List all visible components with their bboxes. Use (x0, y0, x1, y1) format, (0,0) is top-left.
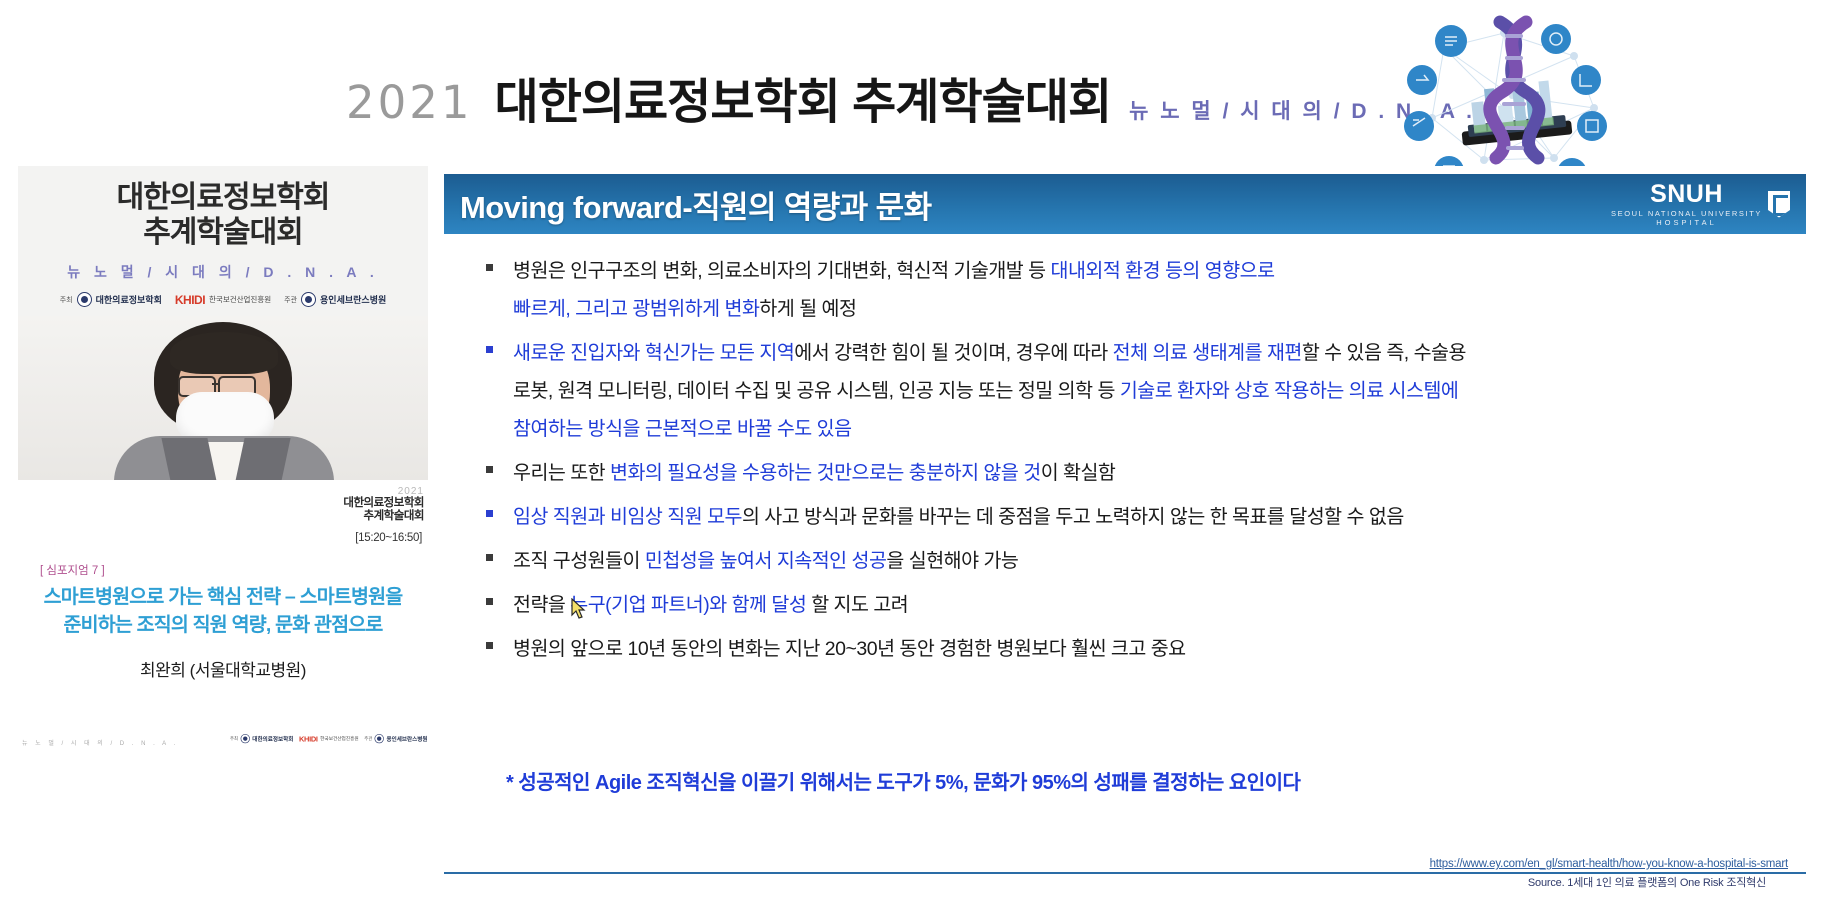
poster-organizer: 주관 용인세브란스병원 (284, 292, 386, 307)
slide-title: Moving forward-직원의 역량과 문화 (460, 182, 931, 227)
banner-title: 대한의료정보학회 추계학술대회 (495, 62, 1112, 132)
plain-text: 의 사고 방식과 문화를 바꾸는 데 중점을 두고 노력하지 않는 한 목표를 … (742, 506, 1404, 528)
session-meta: 2021 대한의료정보학회 추계학술대회 [15:20~16:50] [ 심포지… (18, 486, 428, 732)
footer-sponsor-name: 한국보건산업진흥원 (321, 735, 360, 742)
plain-text: 병원은 인구구조의 변화, 의료소비자의 기대변화, 혁신적 기술개발 등 (513, 260, 1051, 282)
host-seal-icon (77, 292, 92, 307)
bullet-text: 새로운 진입자와 혁신가는 모든 지역에서 강력한 힘이 될 것이며, 경우에 … (513, 334, 1466, 448)
snuh-logo: SNUH SEOUL NATIONAL UNIVERSITY HOSPITAL (1611, 182, 1790, 227)
poster-title: 대한의료정보학회 추계학술대회 (18, 180, 428, 251)
banner-year: 2021 (346, 76, 473, 129)
bullet-line: 임상 직원과 비임상 직원 모두의 사고 방식과 문화를 바꾸는 데 중점을 두… (513, 498, 1404, 536)
conference-banner: 2021 대한의료정보학회 추계학술대회 뉴 노 멀 / 시 대 의 / D .… (0, 0, 1824, 186)
highlighted-text: 대내외적 환경 등의 영향으로 (1051, 260, 1275, 282)
footer-sponsor-acronym: KHIDI (299, 734, 318, 743)
bullet-marker-icon (486, 346, 493, 353)
slide-title-bar: Moving forward-직원의 역량과 문화 SNUH SEOUL NAT… (444, 174, 1806, 234)
bullet-line: 로봇, 원격 모니터링, 데이터 수집 및 공유 시스템, 인공 지능 또는 정… (513, 372, 1466, 410)
organizer-name: 용인세브란스병원 (320, 293, 386, 306)
footer-host: 주최 대한의료정보학회 (230, 734, 293, 743)
bullet-text: 조직 구성원들이 민첩성을 높여서 지속적인 성공을 실현해야 가능 (513, 542, 1018, 580)
footer-host-seal-icon (241, 734, 250, 743)
dna-tablet-network-icon (1404, 8, 1620, 186)
plain-text: 조직 구성원들이 (513, 550, 645, 572)
bullet-item: 병원은 인구구조의 변화, 의료소비자의 기대변화, 혁신적 기술개발 등 대내… (444, 252, 1806, 328)
bullet-line: 참여하는 방식을 근본적으로 바꿀 수도 있음 (513, 410, 1466, 448)
mouse-cursor (571, 598, 587, 620)
poster-host: 주최 대한의료정보학회 (60, 292, 162, 307)
bullet-item: 우리는 또한 변화의 필요성을 수용하는 것만으로는 충분하지 않을 것이 확실… (444, 454, 1806, 492)
plain-text: 할 수 있음 즉, 수술용 (1302, 342, 1466, 364)
session-title: 스마트병원으로 가는 핵심 전략 – 스마트병원을 준비하는 조직의 직원 역량… (18, 584, 428, 639)
footnote-source: Source. 1세대 1인 의료 플랫폼의 One Risk 조직혁신 (1528, 874, 1766, 890)
bullet-item: 병원의 앞으로 10년 동안의 변화는 지난 20~30년 동안 경험한 병원보… (444, 630, 1806, 668)
shield-icon (1768, 191, 1790, 218)
session-title-line2: 준비하는 조직의 직원 역량, 문화 관점으로 (18, 612, 428, 640)
highlighted-text: 전체 의료 생태계를 재편 (1113, 342, 1302, 364)
bullet-item: 조직 구성원들이 민첩성을 높여서 지속적인 성공을 실현해야 가능 (444, 542, 1806, 580)
bullet-marker-icon (486, 642, 493, 649)
session-title-line1: 스마트병원으로 가는 핵심 전략 – 스마트병원을 (18, 584, 428, 612)
panel-footer-logos: 주최 대한의료정보학회 KHIDI 한국보건산업진흥원 주관 용인세브란스병원 (230, 734, 428, 743)
plain-text: 전략을 (513, 594, 570, 616)
bullet-item: 임상 직원과 비임상 직원 모두의 사고 방식과 문화를 바꾸는 데 중점을 두… (444, 498, 1806, 536)
plain-text: 우리는 또한 (513, 462, 610, 484)
plain-text: 할 지도 고려 (806, 594, 908, 616)
bullet-text: 병원의 앞으로 10년 동안의 변화는 지난 20~30년 동안 경험한 병원보… (513, 630, 1186, 668)
poster-title-line2: 추계학술대회 (18, 215, 428, 250)
highlighted-text: 참여하는 방식을 근본적으로 바꿀 수도 있음 (513, 418, 852, 440)
footnote-url-link[interactable]: https://www.ey.com/en_gl/smart-health/ho… (1430, 858, 1788, 870)
plain-text: 병원의 앞으로 10년 동안의 변화는 지난 20~30년 동안 경험한 병원보… (513, 638, 1186, 660)
highlighted-text: 기술로 환자와 상호 작용하는 의료 시스템에 (1120, 380, 1459, 402)
plain-text: 하게 될 예정 (759, 298, 856, 320)
highlighted-text: 변화의 필요성을 수용하는 것만으로는 충분하지 않을 것 (610, 462, 1041, 484)
poster-title-line1: 대한의료정보학회 (18, 180, 428, 215)
sponsor-acronym: KHIDI (175, 293, 205, 307)
footer-organizer: 주관 용인세브란스병원 (365, 734, 428, 743)
bullet-marker-icon (486, 510, 493, 517)
bullet-marker-icon (486, 554, 493, 561)
speaker-name: 최완희 (서울대학교병원) (18, 656, 428, 681)
highlighted-text: 임상 직원과 비임상 직원 모두 (513, 506, 742, 528)
host-name: 대한의료정보학회 (96, 293, 162, 306)
bullet-item: 새로운 진입자와 혁신가는 모든 지역에서 강력한 힘이 될 것이며, 경우에 … (444, 334, 1806, 448)
highlighted-text: 새로운 진입자와 혁신가는 모든 지역 (513, 342, 794, 364)
bullet-item: 전략을 누구(기업 파트너)와 함께 달성 할 지도 고려 (444, 586, 1806, 624)
footer-organizer-name: 용인세브란스병원 (387, 735, 428, 743)
plain-text: 을 실현해야 가능 (886, 550, 1018, 572)
session-poster: 대한의료정보학회 추계학술대회 뉴 노 멀 / 시 대 의 / D . N . … (18, 166, 428, 480)
snuh-logo-name: SNUH (1650, 180, 1723, 208)
session-logo: 2021 대한의료정보학회 추계학술대회 (343, 486, 424, 523)
bullet-line: 조직 구성원들이 민첩성을 높여서 지속적인 성공을 실현해야 가능 (513, 542, 1018, 580)
host-label: 주최 (60, 295, 73, 305)
session-logo-year: 2021 (343, 486, 424, 497)
symposium-tag: [ 심포지엄 7 ] (40, 562, 105, 578)
footer-organizer-seal-icon (375, 734, 384, 743)
banner-title-group: 2021 대한의료정보학회 추계학술대회 뉴 노 멀 / 시 대 의 / D .… (346, 62, 1475, 132)
bullet-line: 병원의 앞으로 10년 동안의 변화는 지난 20~30년 동안 경험한 병원보… (513, 630, 1186, 668)
bullet-text: 우리는 또한 변화의 필요성을 수용하는 것만으로는 충분하지 않을 것이 확실… (513, 454, 1115, 492)
bullet-line: 병원은 인구구조의 변화, 의료소비자의 기대변화, 혁신적 기술개발 등 대내… (513, 252, 1275, 290)
presentation-slide: Moving forward-직원의 역량과 문화 SNUH SEOUL NAT… (444, 166, 1806, 906)
bullet-text: 병원은 인구구조의 변화, 의료소비자의 기대변화, 혁신적 기술개발 등 대내… (513, 252, 1275, 328)
speaker-session-panel: 대한의료정보학회 추계학술대회 뉴 노 멀 / 시 대 의 / D . N . … (18, 166, 428, 732)
bullet-line: 새로운 진입자와 혁신가는 모든 지역에서 강력한 힘이 될 것이며, 경우에 … (513, 334, 1466, 372)
footer-host-label: 주최 (230, 736, 238, 742)
bullet-marker-icon (486, 466, 493, 473)
snuh-logo-line2: HOSPITAL (1611, 219, 1762, 227)
plain-text: 에서 강력한 힘이 될 것이며, 경우에 따라 (794, 342, 1112, 364)
bullet-line: 우리는 또한 변화의 필요성을 수용하는 것만으로는 충분하지 않을 것이 확실… (513, 454, 1115, 492)
bullet-text: 임상 직원과 비임상 직원 모두의 사고 방식과 문화를 바꾸는 데 중점을 두… (513, 498, 1404, 536)
sponsor-name: 한국보건산업진흥원 (209, 294, 271, 305)
poster-sponsor: KHIDI 한국보건산업진흥원 (175, 293, 271, 307)
highlighted-text: 빠르게, 그리고 광범위하게 변화 (513, 298, 759, 320)
bullet-line: 빠르게, 그리고 광범위하게 변화하게 될 예정 (513, 290, 1275, 328)
highlighted-text: 민첩성을 높여서 지속적인 성공 (645, 550, 886, 572)
session-logo-line1: 대한의료정보학회 (343, 497, 424, 510)
panel-footer-tagline: 뉴 노 멀 / 시 대 의 / D . N . A . (22, 738, 178, 747)
plain-text: 로봇, 원격 모니터링, 데이터 수집 및 공유 시스템, 인공 지능 또는 정… (513, 380, 1120, 402)
session-logo-line2: 추계학술대회 (343, 510, 424, 523)
snuh-logo-line1: SEOUL NATIONAL UNIVERSITY (1611, 210, 1762, 218)
slide-bullet-list: 병원은 인구구조의 변화, 의료소비자의 기대변화, 혁신적 기술개발 등 대내… (444, 252, 1806, 674)
presenter-video-portrait (18, 316, 428, 480)
poster-organizations: 주최 대한의료정보학회 KHIDI 한국보건산업진흥원 주관 용인세브란스병원 (18, 292, 428, 307)
plain-text: 이 확실함 (1041, 462, 1116, 484)
footer-sponsor: KHIDI 한국보건산업진흥원 (299, 734, 359, 743)
bullet-marker-icon (486, 598, 493, 605)
organizer-label: 주관 (284, 295, 297, 305)
organizer-seal-icon (301, 292, 316, 307)
session-time: [15:20~16:50] (355, 532, 422, 544)
poster-subtitle: 뉴 노 멀 / 시 대 의 / D . N . A . (18, 262, 428, 282)
footer-organizer-label: 주관 (365, 736, 373, 742)
panel-footer: 뉴 노 멀 / 시 대 의 / D . N . A . 주최 대한의료정보학회 … (18, 732, 428, 762)
slide-note: * 성공적인 Agile 조직혁신을 이끌기 위해서는 도구가 5%, 문화가 … (506, 766, 1786, 795)
bullet-marker-icon (486, 264, 493, 271)
footer-host-name: 대한의료정보학회 (253, 735, 294, 743)
highlighted-text: 누구(기업 파트너)와 함께 달성 (570, 594, 806, 616)
